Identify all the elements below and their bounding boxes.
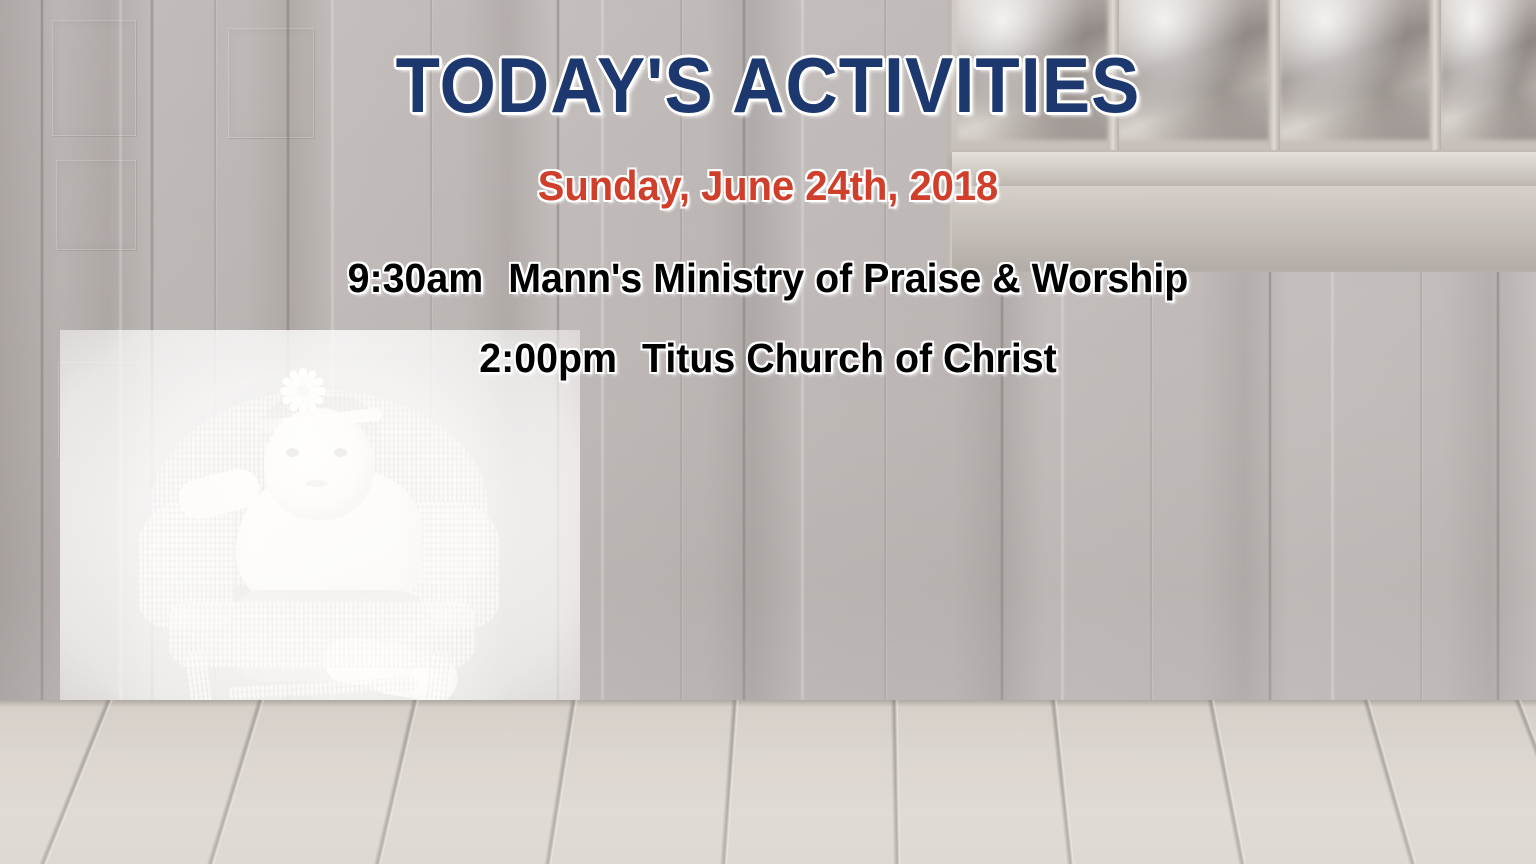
activity-time: 2:00pm <box>479 335 617 381</box>
date-line: Sunday, June 24th, 2018 <box>38 165 1497 207</box>
activity-row: 2:00pmTitus Church of Christ <box>31 338 1506 379</box>
activity-event: Titus Church of Christ <box>642 335 1057 381</box>
slide-text: TODAY'S ACTIVITIES Sunday, June 24th, 20… <box>0 0 1536 864</box>
activity-row: 9:30amMann's Ministry of Praise & Worshi… <box>31 258 1506 299</box>
page-title: TODAY'S ACTIVITIES <box>54 46 1482 124</box>
activity-time: 9:30am <box>348 255 484 301</box>
activity-event: Mann's Ministry of Praise & Worship <box>508 255 1188 301</box>
announcement-slide: TODAY'S ACTIVITIES Sunday, June 24th, 20… <box>0 0 1536 864</box>
